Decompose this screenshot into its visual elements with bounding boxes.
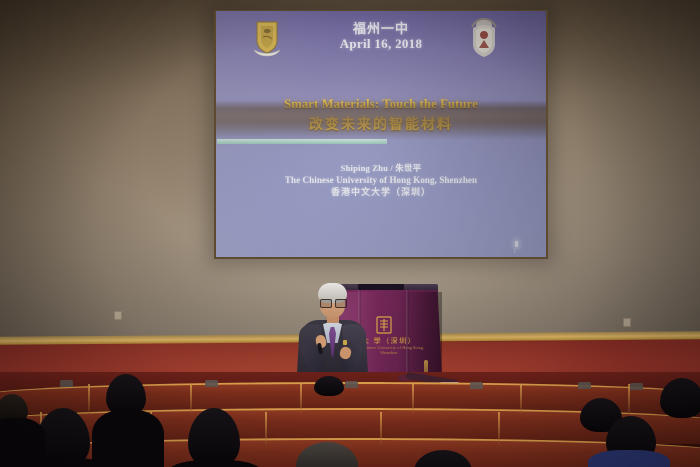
cuhk-seal-icon [376, 316, 392, 334]
seat-armrest [205, 380, 218, 387]
seat-divider [190, 384, 192, 414]
wall-socket-left [114, 311, 122, 320]
audience-shoulders [0, 418, 46, 467]
seat-armrest [630, 383, 643, 390]
seat-armrest [578, 382, 591, 389]
audience-shoulders [92, 410, 164, 467]
lecture-photo-scene: 福州一中 April 16, 2018 [0, 0, 700, 467]
seat-divider [88, 384, 90, 414]
audience-shoulders [588, 450, 670, 467]
seat-armrest [60, 380, 73, 387]
audience-head [660, 378, 700, 418]
audience-head [314, 376, 344, 396]
seat-divider [498, 412, 500, 446]
wall-socket-right [623, 318, 631, 327]
screen-sheen [216, 11, 546, 257]
presenter-lapel-pin [343, 340, 347, 345]
presenter-glasses-icon [320, 299, 345, 306]
seat-divider [520, 384, 522, 414]
projection-screen: 福州一中 April 16, 2018 [216, 11, 546, 257]
seat-divider [265, 412, 267, 446]
seat-divider [380, 412, 382, 446]
audience-seating [0, 372, 700, 467]
seat-divider [300, 384, 302, 414]
seat-armrest [470, 382, 483, 389]
seat-divider [412, 384, 414, 414]
seat-armrest [345, 381, 358, 388]
